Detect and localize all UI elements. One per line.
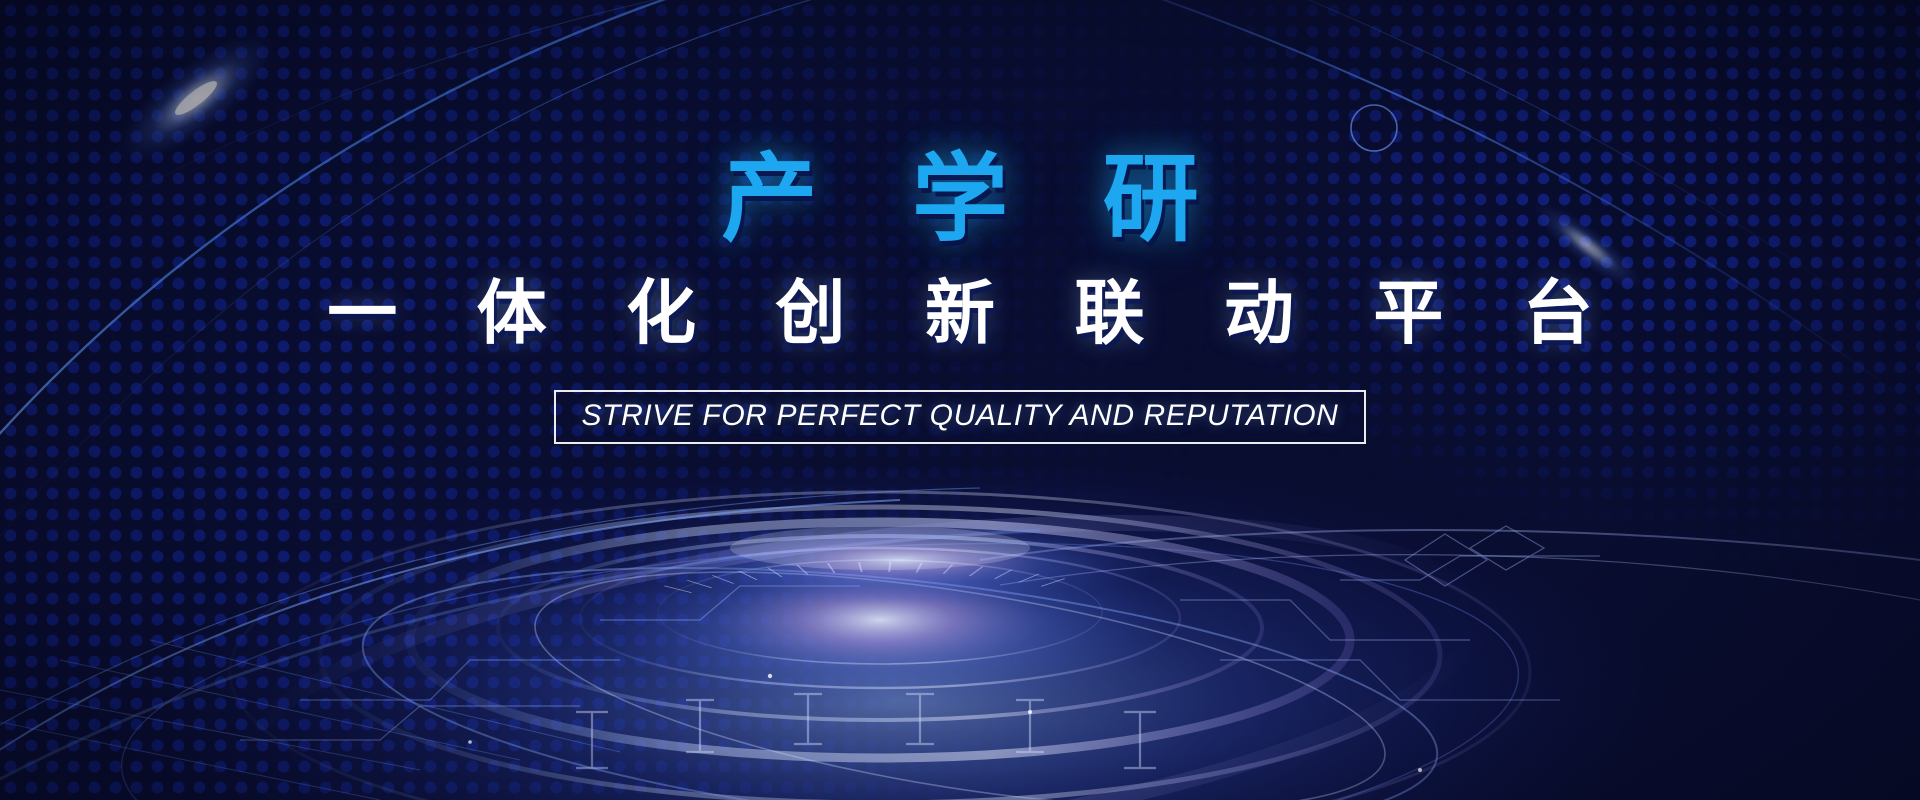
- tagline-box: STRIVE FOR PERFECT QUALITY AND REPUTATIO…: [554, 390, 1367, 444]
- background-gradient: [0, 0, 1920, 800]
- dot-matrix-texture-right: [0, 0, 1920, 800]
- decorative-vector-layer: [0, 0, 1920, 800]
- page-subtitle: 一 体 化 创 新 联 动 平 台: [297, 278, 1623, 348]
- node-dots: [468, 674, 1422, 772]
- page-title: 产 学 研: [687, 152, 1232, 248]
- circle-outline-icon: [1351, 105, 1397, 151]
- promo-banner: 产 学 研 一 体 化 创 新 联 动 平 台 STRIVE FOR PERFE…: [0, 0, 1920, 800]
- tech-orbit-assembly: [0, 450, 1920, 800]
- hud-circuit-lines: [240, 526, 1600, 740]
- banner-content: 产 学 研 一 体 化 创 新 联 动 平 台 STRIVE FOR PERFE…: [0, 0, 1920, 800]
- dot-matrix-texture: [0, 0, 1920, 800]
- tagline-text: STRIVE FOR PERFECT QUALITY AND REPUTATIO…: [582, 401, 1339, 431]
- pillar-marks: [576, 694, 1156, 768]
- vignette-overlay: [0, 0, 1920, 800]
- light-flare-secondary: [1522, 189, 1654, 304]
- radial-ticks: [664, 562, 1065, 593]
- top-arc-group: [0, 0, 1920, 700]
- light-flare-icon: [99, 12, 292, 184]
